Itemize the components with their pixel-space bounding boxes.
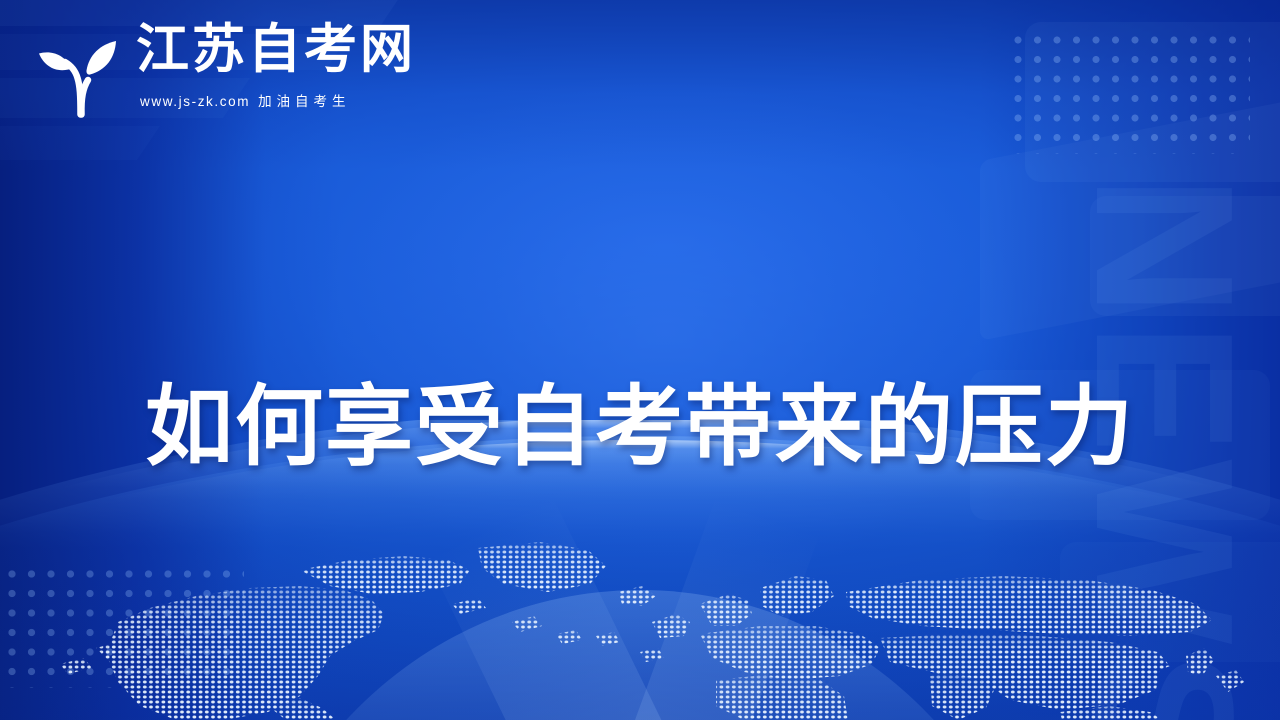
tagline-slogan: 加油自考生 [258, 94, 351, 109]
dotted-world-map [0, 530, 1280, 720]
sprout-icon [36, 26, 122, 118]
brand-name: 江苏自考网 [136, 22, 416, 78]
brand-tagline: www.js-zk.com加油自考生 [140, 90, 416, 110]
tagline-url: www.js-zk.com [140, 94, 250, 109]
diagonal-ribbon [0, 126, 160, 160]
page-title: 如何享受自考带来的压力 [0, 377, 1280, 476]
site-logo[interactable]: 江苏自考网 www.js-zk.com加油自考生 [36, 22, 416, 118]
dot-grid-top-right [1014, 36, 1250, 154]
banner-canvas: NEWS NEWS [0, 0, 1280, 720]
